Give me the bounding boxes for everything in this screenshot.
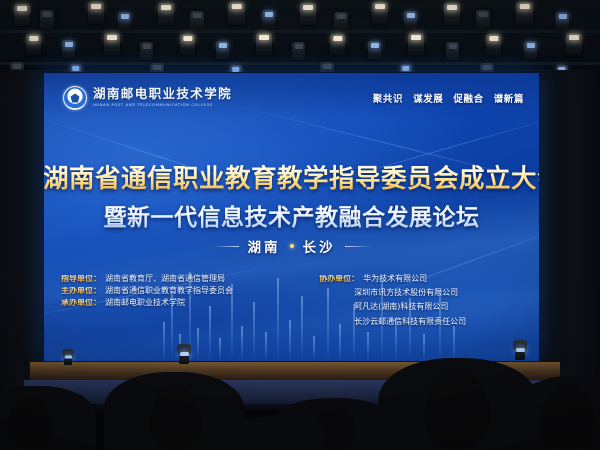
credit-value: 深圳市讯方技术股份有限公司 bbox=[319, 287, 522, 298]
credit-value: 湖南省教育厅、湖南省通信管理局 bbox=[105, 275, 225, 283]
credit-row: 协办单位： 华为技术有限公司 bbox=[319, 275, 522, 283]
conference-hall-photo: 湖南邮电职业技术学院 HUNAN POST AND TELECOMMUNICAT… bbox=[0, 0, 600, 450]
rule-left bbox=[213, 246, 239, 247]
lighting-truss-icon bbox=[0, 0, 600, 82]
event-title-main: 湖南省通信职业教育教学指导委员会成立大会 bbox=[43, 158, 540, 195]
slogan-word-4: 谱新篇 bbox=[494, 91, 524, 105]
credit-label: 主办单位： bbox=[61, 287, 101, 295]
credit-label: 指导单位： bbox=[61, 275, 101, 283]
credit-value: 长沙云邮通信科技有限责任公司 bbox=[319, 316, 522, 327]
slogan-word-2: 谋发展 bbox=[413, 91, 443, 105]
college-name-cn: 湖南邮电职业技术学院 bbox=[93, 88, 232, 101]
college-branding: 湖南邮电职业技术学院 HUNAN POST AND TELECOMMUNICAT… bbox=[63, 86, 232, 110]
location-city: 长沙 bbox=[303, 236, 336, 256]
credit-row: 指导单位： 湖南省教育厅、湖南省通信管理局 bbox=[61, 275, 319, 283]
rule-right bbox=[345, 246, 371, 247]
credit-row: 承办单位： 湖南邮电职业技术学院 bbox=[61, 299, 319, 307]
credit-value: 湖南省通信职业教育教学指导委员会 bbox=[105, 287, 233, 295]
event-title-sub: 暨新一代信息技术产教融合发展论坛 bbox=[43, 198, 540, 232]
credit-value: 阿凡达(湖南)科技有限公司 bbox=[319, 301, 522, 312]
credit-label: 协办单位： bbox=[319, 275, 359, 283]
slogan-word-3: 促融合 bbox=[453, 91, 483, 105]
credits-left-column: 指导单位： 湖南省教育厅、湖南省通信管理局 主办单位： 湖南省通信职业教育教学指… bbox=[61, 275, 319, 327]
credits-right-column: 协办单位： 华为技术有限公司 深圳市讯方技术股份有限公司 阿凡达(湖南)科技有限… bbox=[319, 275, 522, 327]
audience-silhouette-icon bbox=[0, 340, 600, 450]
credit-label: 承办单位： bbox=[61, 299, 101, 307]
credit-value: 湖南邮电职业技术学院 bbox=[105, 299, 185, 307]
slogan-group: 聚共识 谋发展 促融合 谱新篇 bbox=[373, 91, 524, 105]
credit-row: 主办单位： 湖南省通信职业教育教学指导委员会 bbox=[61, 287, 319, 295]
hunan-post-college-emblem-icon bbox=[63, 86, 87, 110]
dot-separator-icon bbox=[290, 244, 294, 248]
led-stage-screen: 湖南邮电职业技术学院 HUNAN POST AND TELECOMMUNICAT… bbox=[43, 72, 540, 362]
college-name-en: HUNAN POST AND TELECOMMUNICATION COLLEGE bbox=[93, 104, 232, 108]
event-location: 湖南 长沙 bbox=[43, 236, 540, 256]
credits-block: 指导单位： 湖南省教育厅、湖南省通信管理局 主办单位： 湖南省通信职业教育教学指… bbox=[43, 275, 540, 327]
credit-value: 华为技术有限公司 bbox=[363, 275, 427, 283]
location-province: 湖南 bbox=[248, 236, 281, 256]
slogan-word-1: 聚共识 bbox=[373, 91, 403, 105]
